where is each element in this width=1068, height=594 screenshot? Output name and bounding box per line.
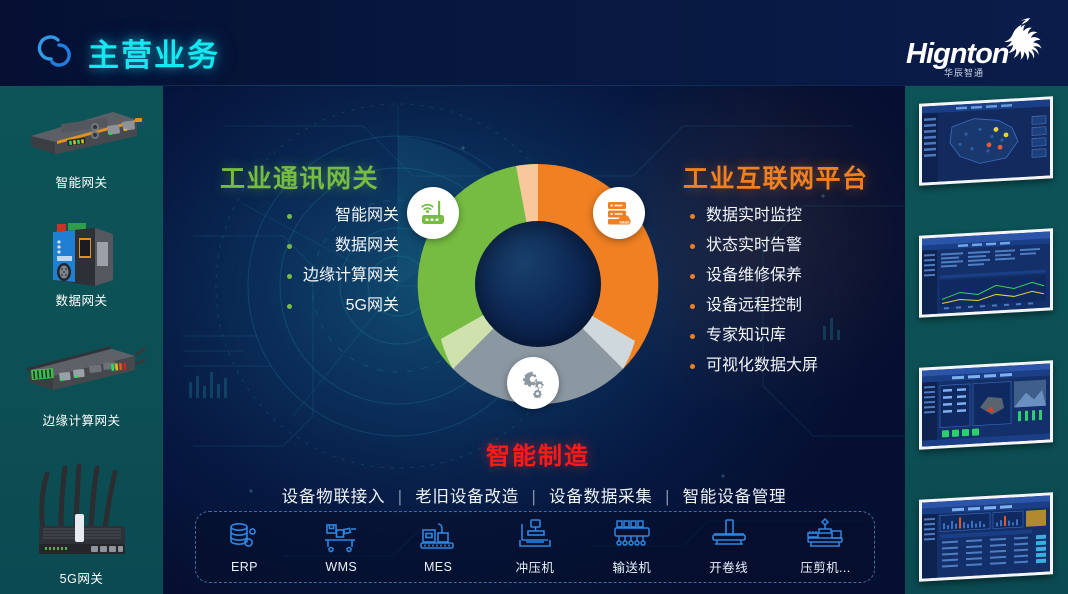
gateway-router-icon	[407, 187, 459, 239]
rail-item-5g-gateway[interactable]: 5G网关	[0, 456, 163, 587]
rail-label: 边缘计算网关	[0, 410, 163, 429]
systems-strip: ERP WMS	[195, 511, 875, 583]
list-item: 边缘计算网关	[283, 268, 399, 284]
list-item: 数据网关	[283, 238, 399, 254]
rail-label: 5G网关	[0, 568, 163, 587]
list-item: 状态实时告警	[686, 238, 818, 254]
rail-item-smart-gateway[interactable]: 智能网关	[0, 96, 163, 191]
sub-item: 设备数据采集	[549, 488, 653, 506]
strip-item-mes[interactable]: MES	[396, 521, 480, 574]
dashboard-device-screenshot[interactable]	[919, 360, 1053, 449]
conveyor-machine-icon	[590, 518, 674, 552]
sub-item: 设备物联接入	[282, 488, 386, 506]
strip-label: 输送机	[590, 557, 674, 576]
strip-label: WMS	[299, 560, 383, 574]
slide-header: 主营业务 Hignton 华辰智通	[0, 0, 1068, 86]
slide-root: 工业通讯网关 工业互联网平台 智能网关 数据网关 边缘计算网关 5G网关 数据实…	[0, 0, 1068, 594]
right-column-heading: 工业互联网平台	[683, 159, 869, 195]
dashboard-table-screenshot[interactable]	[919, 228, 1053, 317]
rail-label: 智能网关	[0, 172, 163, 191]
edge-compute-gateway-device-image	[17, 334, 147, 406]
separator: |	[658, 488, 677, 506]
page-title: 主营业务	[88, 30, 220, 75]
sub-item: 智能设备管理	[683, 488, 787, 506]
left-bullet-list: 智能网关 数据网关 边缘计算网关 5G网关	[283, 208, 399, 328]
donut-center-hole	[475, 221, 601, 347]
strip-item-stamping[interactable]: 冲压机	[493, 518, 577, 576]
sub-item: 老旧设备改造	[415, 488, 519, 506]
list-item: 设备维修保养	[686, 268, 818, 284]
gears-icon	[507, 357, 559, 409]
rail-item-edge-gateway[interactable]: 边缘计算网关	[0, 334, 163, 429]
stamping-machine-icon	[493, 518, 577, 552]
5g-gateway-router-device-image	[17, 456, 147, 566]
dual-ring-icon	[28, 27, 84, 75]
strip-item-erp[interactable]: ERP	[202, 521, 286, 574]
list-item: 设备远程控制	[686, 298, 818, 314]
left-product-rail: 智能网关	[0, 86, 163, 594]
dashboard-report-screenshot[interactable]	[919, 492, 1053, 581]
strip-label: 压剪机...	[783, 557, 867, 576]
separator: |	[391, 488, 410, 506]
center-title: 智能制造	[413, 436, 663, 471]
uncoiling-line-icon	[687, 518, 771, 552]
separator: |	[524, 488, 543, 506]
saas-server-icon: saas	[593, 187, 645, 239]
main-stage: 工业通讯网关 工业互联网平台 智能网关 数据网关 边缘计算网关 5G网关 数据实…	[163, 86, 905, 594]
strip-label: MES	[396, 560, 480, 574]
dashboard-map-screenshot[interactable]	[919, 96, 1053, 185]
strip-item-conveyor[interactable]: 输送机	[590, 518, 674, 576]
donut-diagram: saas	[413, 159, 663, 409]
list-item: 专家知识库	[686, 328, 818, 344]
data-gateway-device-image	[17, 214, 147, 286]
rail-item-data-gateway[interactable]: 数据网关	[0, 214, 163, 309]
rail-label: 数据网关	[0, 290, 163, 309]
right-bullet-list: 数据实时监控 状态实时告警 设备维修保养 设备远程控制 专家知识库 可视化数据大…	[686, 208, 818, 388]
production-line-icon	[396, 521, 480, 555]
list-item: 5G网关	[283, 298, 399, 314]
strip-label: ERP	[202, 560, 286, 574]
strip-label: 开卷线	[687, 557, 771, 576]
strip-item-shear[interactable]: 压剪机...	[783, 518, 867, 576]
database-gear-icon	[202, 521, 286, 555]
list-item: 智能网关	[283, 208, 399, 224]
company-logo: Hignton 华辰智通	[902, 16, 1052, 78]
left-column-heading: 工业通讯网关	[220, 159, 379, 195]
list-item: 数据实时监控	[686, 208, 818, 224]
warehouse-cart-icon	[299, 521, 383, 555]
strip-item-wms[interactable]: WMS	[299, 521, 383, 574]
strip-label: 冲压机	[493, 557, 577, 576]
list-item: 可视化数据大屏	[686, 358, 818, 374]
smart-gateway-device-image	[17, 96, 147, 168]
svg-text:saas: saas	[619, 219, 630, 224]
right-screenshot-rail	[905, 86, 1068, 594]
logo-subtext: 华辰智通	[944, 66, 984, 79]
shear-press-icon	[783, 518, 867, 552]
header-divider	[0, 85, 1068, 86]
sub-items-row: 设备物联接入 | 老旧设备改造 | 设备数据采集 | 智能设备管理	[163, 483, 905, 507]
strip-item-uncoiler[interactable]: 开卷线	[687, 518, 771, 576]
